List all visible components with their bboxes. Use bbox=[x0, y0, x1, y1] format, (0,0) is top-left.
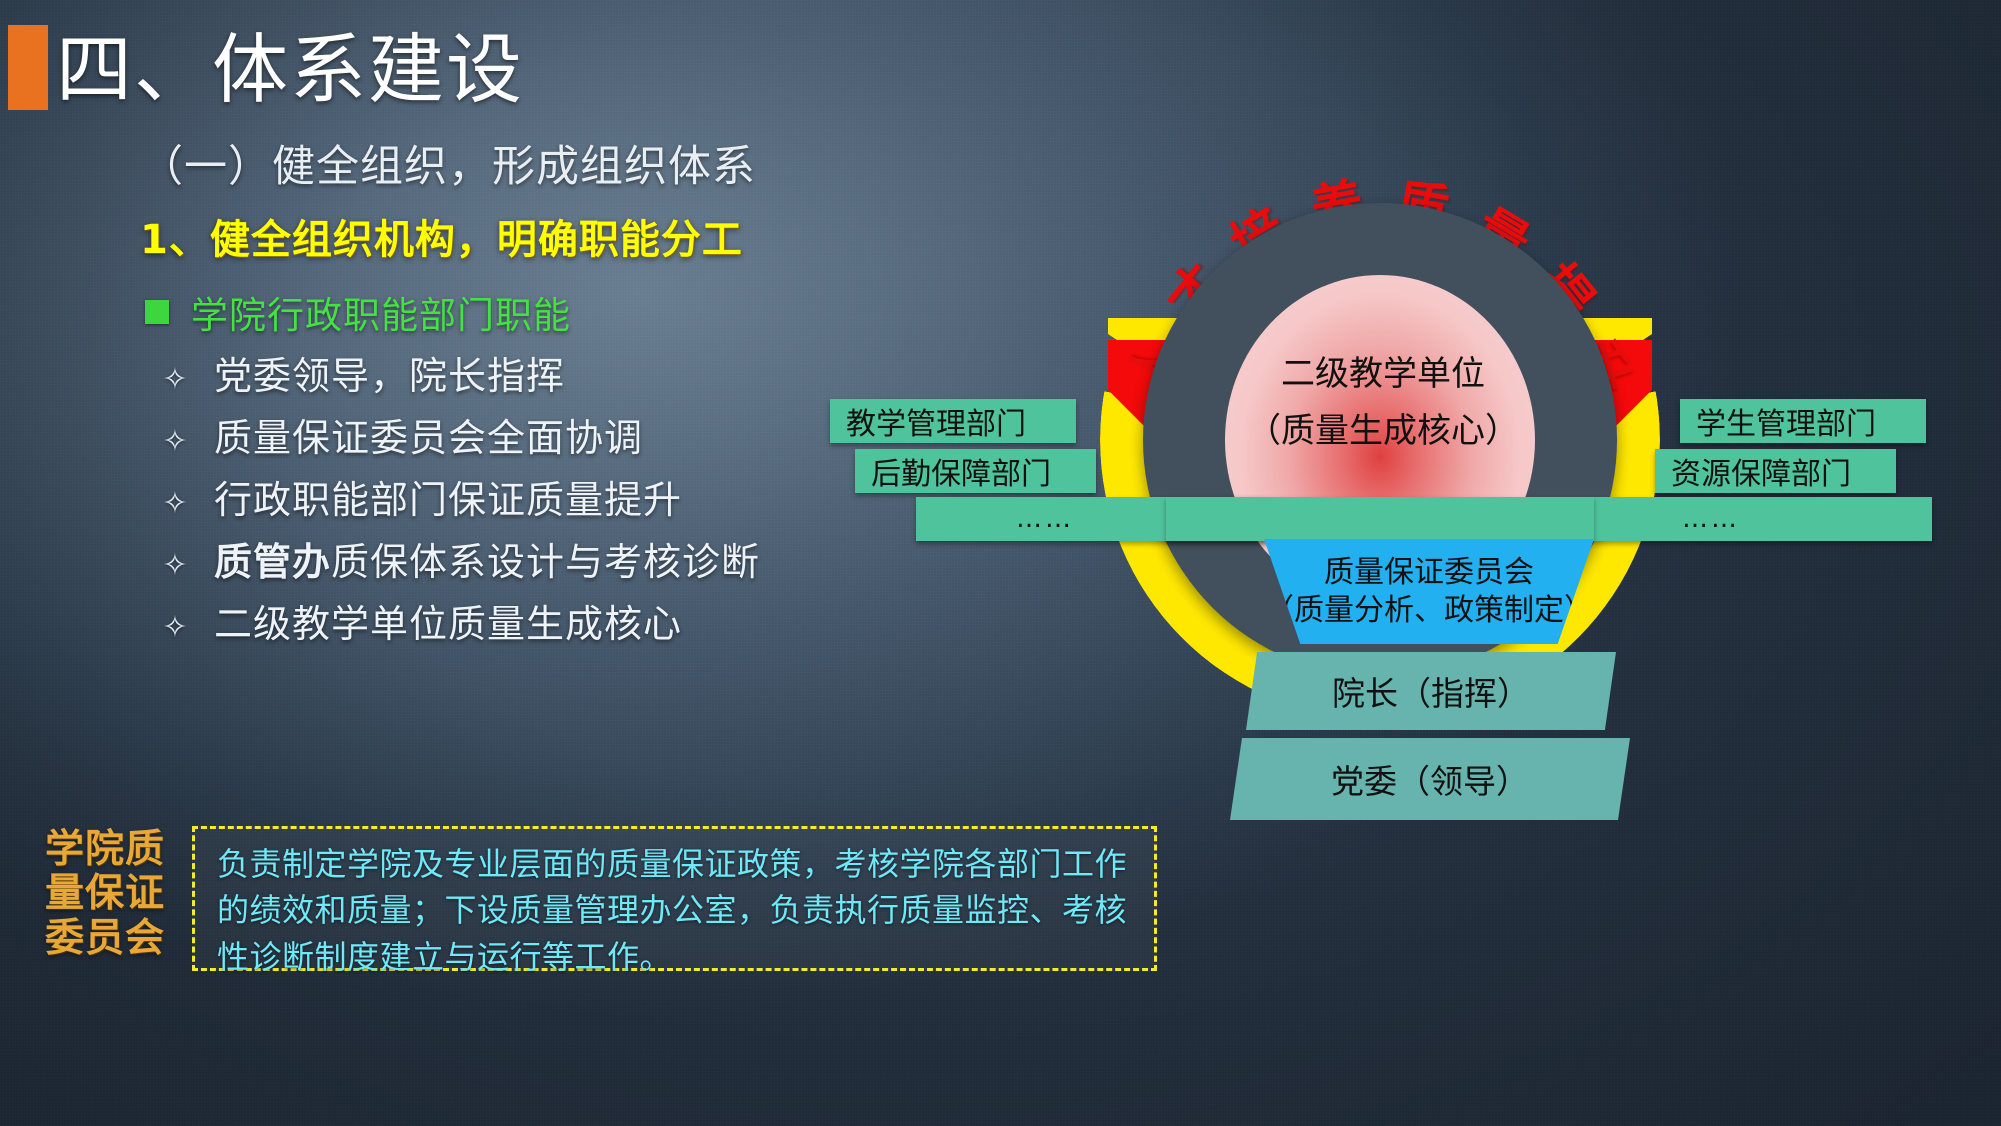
trapezoid-dean: 院长（指挥） bbox=[1246, 652, 1616, 730]
band-label: 后勤保障部门 bbox=[871, 449, 1051, 493]
band-label: …… bbox=[1682, 504, 1740, 534]
section-subheading: （一）健全组织，形成组织体系 bbox=[140, 132, 756, 194]
list-item: ✧ 质管办质保体系设计与考核诊断 bbox=[160, 531, 760, 593]
trapezoid-line1: 党委（领导） bbox=[1331, 755, 1529, 803]
band-center-3 bbox=[1166, 497, 1594, 541]
sub-bullet-list: ✧ 党委领导，院长指挥 ✧ 质量保证委员会全面协调 ✧ 行政职能部门保证质量提升… bbox=[160, 345, 760, 655]
list-item: ✧ 党委领导，院长指挥 bbox=[160, 345, 760, 407]
trapezoid-line2: （质量分析、政策制定） bbox=[1264, 592, 1594, 630]
band-label: 教学管理部门 bbox=[846, 399, 1026, 443]
title-accent-bar bbox=[8, 25, 48, 110]
list-item: ✧ 二级教学单位质量生成核心 bbox=[160, 593, 760, 655]
band-right-3: …… bbox=[1594, 497, 1932, 541]
section-headline-2: 1、健全组织机构，明确职能分工 bbox=[140, 207, 743, 265]
green-bullet-row: 学院行政职能部门职能 bbox=[145, 285, 571, 339]
band-label: …… bbox=[1016, 504, 1074, 534]
note-callout-text: 负责制定学院及专业层面的质量保证政策，考核学院各部门工作的绩效和质量；下设质量管… bbox=[217, 841, 1132, 980]
diamond-bullet-icon: ✧ bbox=[160, 613, 190, 643]
list-item-label: 二级教学单位质量生成核心 bbox=[214, 593, 682, 648]
list-item-label: 行政职能部门保证质量提升 bbox=[214, 469, 682, 524]
band-label: 学生管理部门 bbox=[1696, 399, 1876, 443]
diamond-bullet-icon: ✧ bbox=[160, 489, 190, 519]
page-title: 四、体系建设 bbox=[56, 8, 524, 118]
core-label-line2: （质量生成核心） bbox=[1233, 403, 1533, 452]
list-item-label: 质量保证委员会全面协调 bbox=[214, 407, 643, 462]
square-bullet-icon bbox=[145, 300, 169, 324]
diamond-bullet-icon: ✧ bbox=[160, 551, 190, 581]
band-label: 资源保障部门 bbox=[1671, 449, 1851, 493]
trapezoid-quality-committee: 质量保证委员会 （质量分析、政策制定） bbox=[1264, 539, 1594, 644]
trapezoid-line1: 质量保证委员会 bbox=[1264, 554, 1594, 592]
diamond-bullet-icon: ✧ bbox=[160, 365, 190, 395]
band-right-2: 资源保障部门 bbox=[1655, 449, 1896, 493]
note-callout-box: 负责制定学院及专业层面的质量保证政策，考核学院各部门工作的绩效和质量；下设质量管… bbox=[192, 826, 1157, 971]
list-item-label-emphasized: 质管办质保体系设计与考核诊断 bbox=[214, 531, 760, 586]
band-left-1: 教学管理部门 bbox=[830, 399, 1076, 443]
list-item: ✧ 质量保证委员会全面协调 bbox=[160, 407, 760, 469]
band-left-2: 后勤保障部门 bbox=[855, 449, 1096, 493]
list-item-rest: 质保体系设计与考核诊断 bbox=[331, 540, 760, 584]
core-label-line1: 二级教学单位 bbox=[1253, 346, 1513, 395]
band-right-1: 学生管理部门 bbox=[1680, 399, 1926, 443]
green-bullet-label: 学院行政职能部门职能 bbox=[191, 285, 571, 339]
diamond-bullet-icon: ✧ bbox=[160, 427, 190, 457]
slide-canvas: 四、体系建设 （一）健全组织，形成组织体系 1、健全组织机构，明确职能分工 学院… bbox=[0, 0, 2001, 1126]
committee-side-label: 学院质量保证委员会 bbox=[30, 828, 180, 961]
list-item-bold-prefix: 质管办 bbox=[214, 539, 331, 584]
trapezoid-line1: 院长（指挥） bbox=[1332, 667, 1530, 715]
trapezoid-party-committee: 党委（领导） bbox=[1230, 738, 1630, 820]
list-item-label: 党委领导，院长指挥 bbox=[214, 345, 565, 400]
list-item: ✧ 行政职能部门保证质量提升 bbox=[160, 469, 760, 531]
